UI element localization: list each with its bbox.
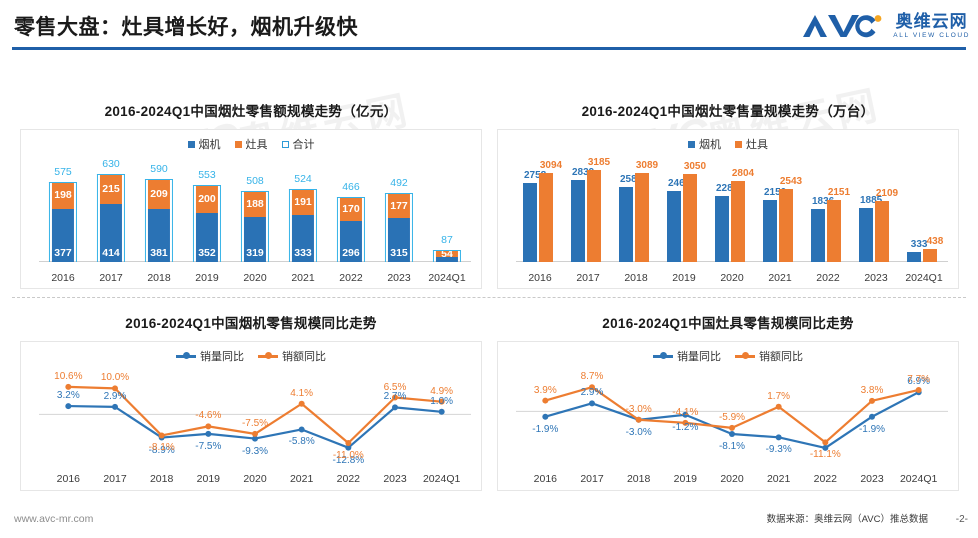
bar-value-hood: 414 [100,247,122,259]
data-point[interactable] [869,414,875,420]
bar-hood[interactable] [619,187,633,262]
bar-group[interactable]: 3771985752016 [39,164,87,262]
data-point[interactable] [392,404,398,410]
bar-segment-cooktop[interactable]: 200 [196,185,218,213]
data-point-label: -9.3% [238,446,272,457]
legend-swatch-icon [735,141,742,148]
stacked-bar: 315177492 [388,164,410,262]
avc-logo-text: 奥维云网 ALL VIEW CLOUD [893,13,970,40]
bar-value-total: 508 [234,175,276,187]
data-point[interactable] [916,387,922,393]
data-point-label: 10.0% [98,372,132,383]
bar-group[interactable]: 4142156302017 [87,164,135,262]
bar-group[interactable]: 3522005532019 [183,164,231,262]
stacked-bar: 319188508 [244,164,266,262]
page-title: 零售大盘：灶具增长好，烟机升级快 [14,11,358,41]
chart-legend: 烟机灶具合计 [21,136,481,152]
x-axis-label: 2019 [661,473,709,485]
bar-segment-hood[interactable]: 315 [388,218,410,262]
bar-segment-hood[interactable]: 352 [196,213,218,262]
x-axis-label: 2022 [804,272,852,284]
data-point-label: -11.0% [331,450,365,461]
legend-label: 灶具 [246,136,268,152]
bar-group[interactable]: 3191885082020 [231,164,279,262]
data-point-label: 2.7% [378,391,412,402]
avc-logo-icon [801,12,887,40]
x-axis-label: 2024Q1 [418,473,466,485]
data-point-label: -1.9% [528,424,562,435]
x-axis-label: 2018 [138,473,186,485]
bar-hood[interactable] [859,208,873,262]
bar-hood[interactable] [715,196,729,262]
chart-legend: 烟机灶具 [498,136,958,152]
data-point-label: -3.0% [622,427,656,438]
data-point-label: 7.7% [902,374,936,385]
data-point[interactable] [729,431,735,437]
bar-value-cooktop: 191 [292,196,314,208]
x-axis-label: 2021 [279,272,327,284]
bar-value-hood: 319 [244,247,266,259]
bar-hood[interactable] [811,209,825,262]
bar-hood[interactable] [571,180,585,262]
bar-value-cooktop: 54 [436,248,458,260]
bar-value-total: 590 [138,163,180,175]
x-axis-label: 2016 [44,473,92,485]
data-point[interactable] [252,431,258,437]
chart-title-retail-volume: 2016-2024Q1中国烟灶零售量规模走势（万台） [497,100,959,120]
chart-title-hood-yoy: 2016-2024Q1中国烟机零售规模同比走势 [20,312,482,332]
bar-value-total: 575 [42,166,84,178]
data-point-label: 3.8% [855,385,889,396]
chart-plot-hood-yoy: 销量同比销额同比3.2%2.9%-8.9%-7.5%-9.3%-5.8%-12.… [20,341,482,491]
bar-group[interactable]: 283931852017 [564,164,612,262]
legend-item-2[interactable]: 灶具 [235,136,268,152]
footer-website-link[interactable]: www.avc-mr.com [14,513,93,525]
bar-group[interactable]: 3354872024Q1 [423,164,471,262]
stacked-bar: 333191524 [292,164,314,262]
bar-value-total: 87 [426,234,468,246]
data-point-label: 2.9% [575,387,609,398]
data-point[interactable] [822,439,828,445]
x-axis-label: 2018 [135,272,183,284]
data-point[interactable] [65,384,71,390]
data-point-label: 1.0% [425,396,459,407]
bar-segment-hood[interactable]: 319 [244,217,266,262]
data-point[interactable] [112,404,118,410]
data-point[interactable] [159,432,165,438]
legend-swatch-icon [188,141,195,148]
legend-item-1[interactable]: 烟机 [688,136,721,152]
bar-group[interactable]: 3334382024Q1 [900,164,948,262]
x-axis-label: 2023 [371,473,419,485]
chart-title-cooktop-yoy: 2016-2024Q1中国灶具零售规模同比走势 [497,312,959,332]
bar-value-cooktop: 177 [388,200,410,212]
bar-value-cooktop: 438 [913,236,957,247]
bar-segment-cooktop[interactable]: 191 [292,189,314,216]
bar-segment-cooktop[interactable]: 170 [340,197,362,221]
data-point-label: -1.2% [668,422,702,433]
bar-group[interactable]: 183621512022 [804,164,852,262]
data-point-label: -5.9% [715,412,749,423]
x-axis-label: 2017 [87,272,135,284]
x-axis-label: 2024Q1 [895,473,943,485]
bar-cooktop[interactable] [635,173,649,262]
bar-segment-cooktop[interactable]: 198 [52,182,74,210]
data-point[interactable] [439,409,445,415]
bar-segment-cooktop[interactable]: 215 [100,174,122,204]
bar-group[interactable]: 246930502019 [660,164,708,262]
legend-swatch-icon [235,141,242,148]
data-point-label: -3.0% [622,404,656,415]
bar-cooktop[interactable] [923,249,937,262]
avc-logo-en: ALL VIEW CLOUD [893,33,970,40]
section-divider [12,297,966,298]
x-axis-label: 2023 [852,272,900,284]
bar-value-cooktop: 198 [52,189,74,201]
chart-panel-cooktop-yoy: 2016-2024Q1中国灶具零售规模同比走势 销量同比销额同比-1.9%2.9… [497,312,959,491]
bar-cooktop[interactable] [731,181,745,262]
data-point-label: 10.6% [51,371,85,382]
bar-group[interactable]: 275830942016 [516,164,564,262]
x-axis-label: 2021 [755,473,803,485]
data-point-label: -7.5% [238,418,272,429]
avc-logo: 奥维云网 ALL VIEW CLOUD [801,9,970,43]
data-point-label: 3.2% [51,390,85,401]
x-axis-label: 2019 [660,272,708,284]
data-point-label: -7.5% [191,441,225,452]
chart-title-retail-value: 2016-2024Q1中国烟灶零售额规模走势（亿元） [20,100,482,120]
bar-value-total: 466 [330,181,372,193]
data-point[interactable] [205,423,211,429]
bar-group[interactable]: 258730892018 [612,164,660,262]
bar-value-hood: 333 [292,247,314,259]
bar-group[interactable]: 228328042020 [708,164,756,262]
data-point-label: -4.1% [668,407,702,418]
x-axis-label: 2016 [516,272,564,284]
chart-plot-retail-volume: 烟机灶具275830942016283931852017258730892018… [497,129,959,289]
bar-hood[interactable] [763,200,777,262]
x-axis-label: 2024Q1 [900,272,948,284]
bar-value-cooktop: 188 [244,198,266,210]
data-point[interactable] [776,434,782,440]
bar-segment-cooktop[interactable]: 188 [244,191,266,217]
bar-cooktop[interactable] [875,201,889,262]
bar-hood[interactable] [523,183,537,262]
data-point-label: -1.9% [855,424,889,435]
legend-label: 烟机 [699,136,721,152]
x-axis-label: 2023 [375,272,423,284]
bar-group[interactable]: 3331915242021 [279,164,327,262]
chart-plot-retail-value: 烟机灶具合计3771985752016414215630201738120959… [20,129,482,289]
data-point-label: 2.9% [98,391,132,402]
bar-value-total: 630 [90,158,132,170]
bar-hood[interactable] [667,191,681,262]
bar-segment-cooktop[interactable]: 177 [388,193,410,218]
x-axis-label: 2024Q1 [423,272,471,284]
data-point-label: 4.1% [285,388,319,399]
x-axis-label: 2017 [568,473,616,485]
legend-item-3[interactable]: 合计 [282,136,315,152]
x-axis-label: 2020 [231,272,279,284]
data-point-label: 3.9% [528,385,562,396]
data-point[interactable] [345,440,351,446]
data-point[interactable] [776,404,782,410]
bar-value-cooktop: 170 [340,203,362,215]
data-point-label: -8.1% [715,441,749,452]
bar-value-cooktop: 209 [148,188,170,200]
x-axis-label: 2017 [564,272,612,284]
x-axis-label: 2021 [278,473,326,485]
x-axis-label: 2022 [327,272,375,284]
data-point[interactable] [65,403,71,409]
legend-item-2[interactable]: 灶具 [735,136,768,152]
legend-label: 灶具 [746,136,768,152]
bar-value-hood: 296 [340,247,362,259]
bar-cooktop[interactable] [779,189,793,262]
header-divider [12,47,966,50]
bar-group[interactable]: 3812095902018 [135,164,183,262]
bar-group[interactable]: 215025432021 [756,164,804,262]
line-chart-svg [21,342,481,490]
data-point[interactable] [869,398,875,404]
data-point-label: 1.7% [762,391,796,402]
bar-cooktop[interactable] [827,200,841,262]
bar-cooktop[interactable] [683,174,697,262]
page-header: 零售大盘：灶具增长好，烟机升级快 奥维云网 ALL VIEW CLOUD [0,0,978,52]
data-point-label: -11.1% [808,449,842,460]
legend-label: 合计 [293,136,315,152]
bar-value-total: 524 [282,173,324,185]
data-point-label: 4.9% [425,386,459,397]
bar-segment-hood[interactable]: 296 [340,221,362,262]
x-axis-label: 2019 [184,473,232,485]
data-point[interactable] [299,401,305,407]
bar-group[interactable]: 2961704662022 [327,164,375,262]
bar-group[interactable]: 188521092023 [852,164,900,262]
x-axis-label: 2021 [756,272,804,284]
chart-panel-retail-volume: 2016-2024Q1中国烟灶零售量规模走势（万台） 烟机灶具275830942… [497,100,959,289]
footer-data-source: 数据来源：奥维云网（AVC）推总数据 [767,511,928,525]
bar-segment-cooktop[interactable]: 209 [148,179,170,208]
bar-segment-hood[interactable]: 414 [100,204,122,262]
data-point-label: 6.5% [378,382,412,393]
x-axis-label: 2016 [39,272,87,284]
bar-value-total: 492 [378,177,420,189]
bar-cooktop[interactable] [539,173,553,262]
bar-cooktop[interactable] [587,170,601,262]
bar-value-hood: 377 [52,247,74,259]
x-axis-label: 2016 [521,473,569,485]
data-point-label: -8.1% [145,442,179,453]
x-axis-label: 2018 [615,473,663,485]
bar-value-hood: 381 [148,247,170,259]
x-axis-label: 2020 [708,473,756,485]
data-point[interactable] [542,414,548,420]
legend-label: 烟机 [199,136,221,152]
data-point-label: -5.8% [285,436,319,447]
legend-swatch-icon [688,141,695,148]
x-axis-label: 2023 [848,473,896,485]
bar-segment-hood[interactable]: 381 [148,209,170,262]
bar-segment-cooktop[interactable]: 54 [436,250,458,258]
x-axis-label: 2022 [324,473,372,485]
stacked-bar: 335487 [436,164,458,262]
x-axis-label: 2017 [91,473,139,485]
stacked-bar: 381209590 [148,164,170,262]
data-point[interactable] [589,400,595,406]
bar-value-total: 553 [186,169,228,181]
bar-area: 3771985752016414215630201738120959020183… [39,164,471,262]
footer-page-number: -2- [956,514,968,525]
data-point-label: 8.7% [575,371,609,382]
x-axis-label: 2018 [612,272,660,284]
bar-segment-hood[interactable]: 377 [52,209,74,262]
x-axis-label: 2020 [231,473,279,485]
stacked-bar: 352200553 [196,164,218,262]
legend-swatch-icon [282,141,289,148]
avc-logo-cn: 奥维云网 [896,13,968,30]
bar-value-cooktop: 215 [100,183,122,195]
stacked-bar: 296170466 [340,164,362,262]
bar-group[interactable]: 3151774922023 [375,164,423,262]
bar-value-hood: 315 [388,247,410,259]
x-axis-label: 2019 [183,272,231,284]
x-axis-label: 2022 [801,473,849,485]
bar-value-cooktop: 200 [196,193,218,205]
data-point[interactable] [636,417,642,423]
bar-value-hood: 352 [196,247,218,259]
chart-panel-retail-value: 2016-2024Q1中国烟灶零售额规模走势（亿元） 烟机灶具合计3771985… [20,100,482,289]
stacked-bar: 377198575 [52,164,74,262]
chart-panel-hood-yoy: 2016-2024Q1中国烟机零售规模同比走势 销量同比销额同比3.2%2.9%… [20,312,482,491]
x-axis-label: 2020 [708,272,756,284]
chart-plot-cooktop-yoy: 销量同比销额同比-1.9%2.9%-3.0%-1.2%-8.1%-9.3%-1.… [497,341,959,491]
legend-item-1[interactable]: 烟机 [188,136,221,152]
bar-area: 2758309420162839318520172587308920182469… [516,164,948,262]
data-point-label: -4.6% [191,410,225,421]
data-point[interactable] [542,398,548,404]
data-point[interactable] [205,431,211,437]
stacked-bar: 414215630 [100,164,122,262]
bar-hood[interactable] [907,252,921,262]
bar-segment-hood[interactable]: 333 [292,215,314,262]
data-point-label: -9.3% [762,444,796,455]
data-point[interactable] [729,425,735,431]
data-point[interactable] [299,426,305,432]
